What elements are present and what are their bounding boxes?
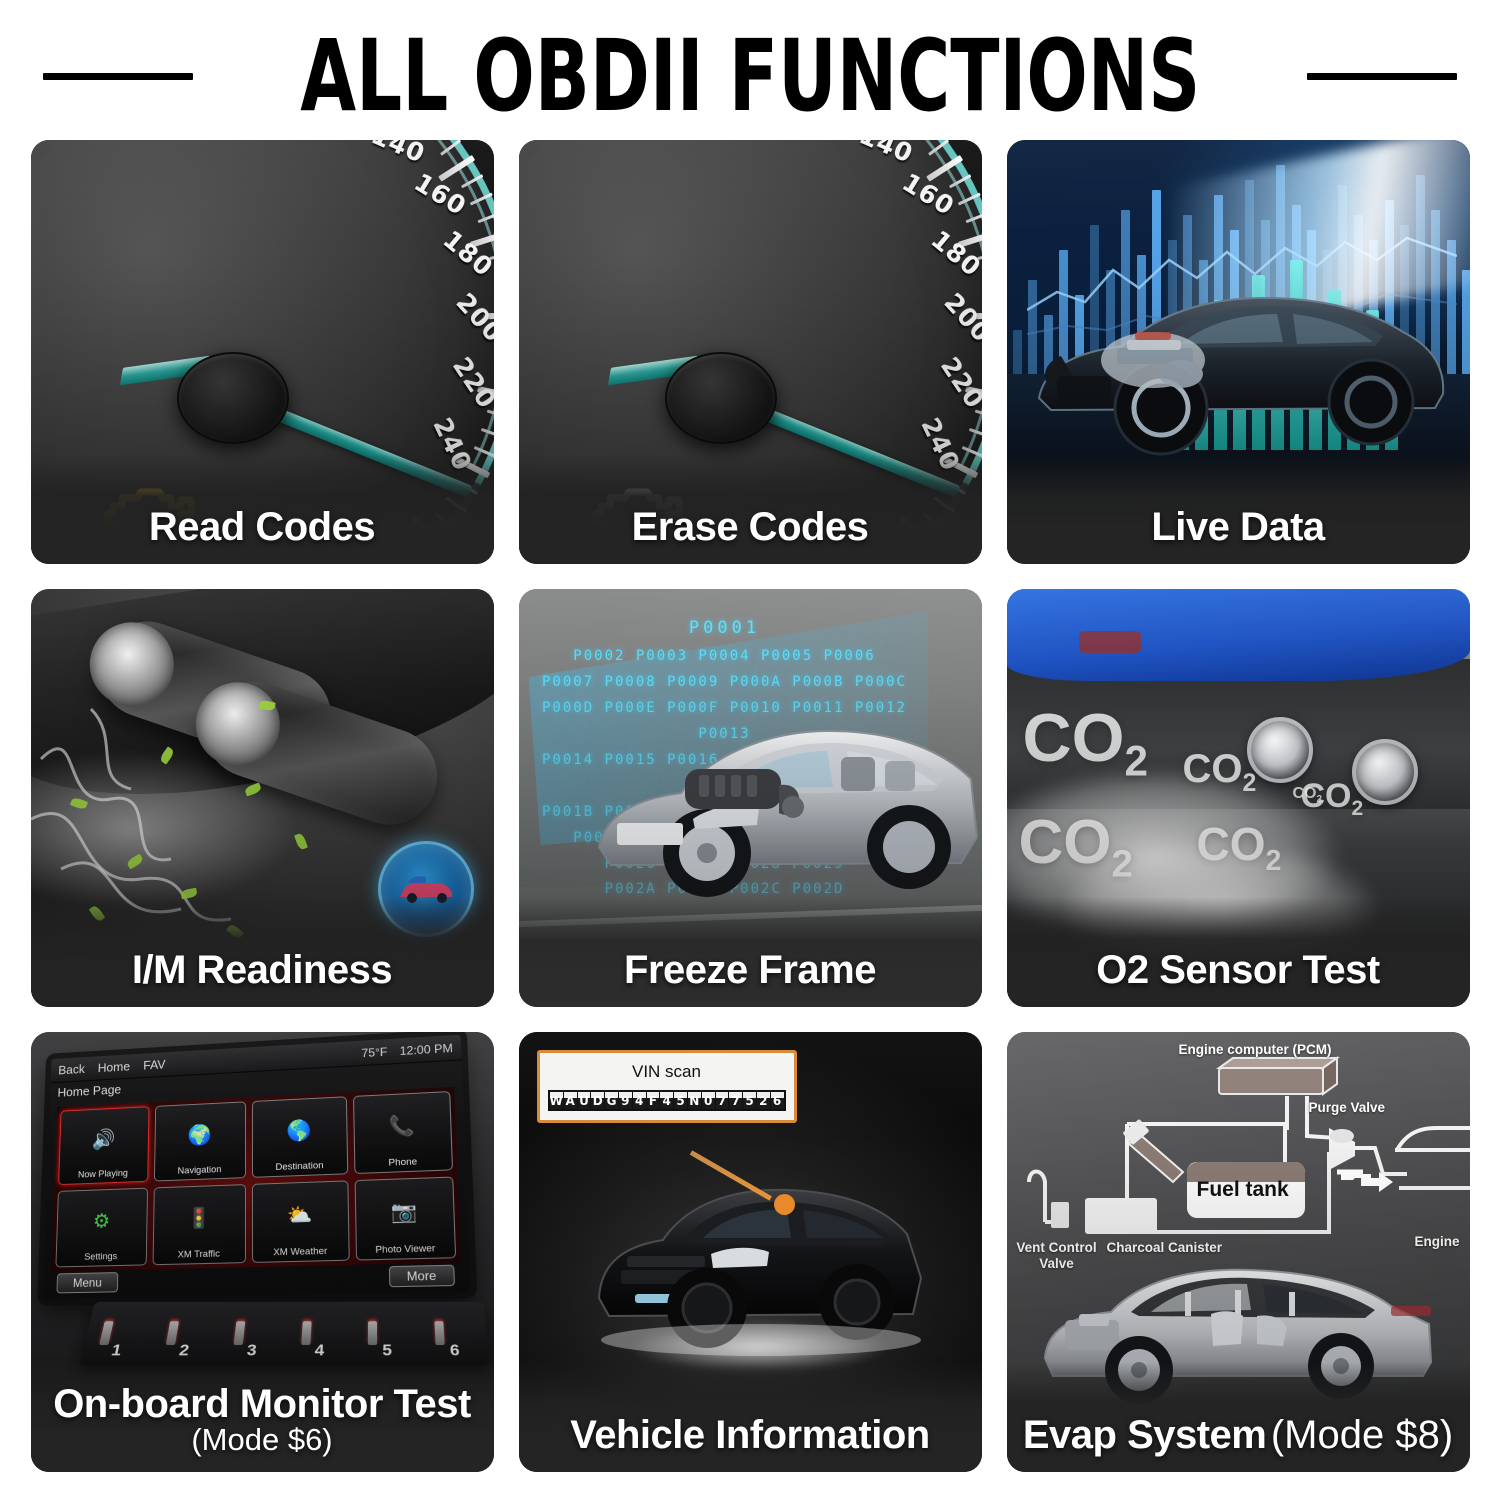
app-label: Now Playing (77, 1168, 127, 1181)
gauge-number: 200 (951, 290, 981, 347)
menu-button[interactable]: Menu (56, 1272, 118, 1293)
gauge-number: 220 (942, 353, 982, 413)
title-rule-left (43, 73, 193, 80)
app-photo-viewer[interactable]: 📷 Photo Viewer (354, 1177, 456, 1261)
cloud-sun-icon: ⛅ (286, 1183, 312, 1247)
gauge-number: 140 (856, 140, 916, 174)
vin-scan-title: VIN scan (548, 1060, 786, 1090)
page-header: ALL OBDII FUNCTIONS (0, 0, 1500, 140)
label-fuel-tank: Fuel tank (1197, 1178, 1289, 1202)
temperature-readout: 75°F (361, 1044, 387, 1059)
freeze-frame-caption: Freeze Frame (519, 950, 982, 1007)
vin-callout-dot (774, 1194, 795, 1215)
clock-readout: 12:00 PM (399, 1041, 453, 1058)
label-engine: Engine (1414, 1234, 1459, 1250)
tile-label: On-board Monitor Test (31, 1384, 494, 1425)
vin-character-cell: 7 (716, 1092, 729, 1109)
app-destination[interactable]: 🌎 Destination (251, 1096, 347, 1178)
tile-label: Vehicle Information (519, 1415, 982, 1456)
camera-icon: 📷 (390, 1179, 418, 1244)
tile-evap-system[interactable]: Engine computer (PCM) Purge Valve Fuel t… (1007, 1032, 1470, 1472)
co2-label: CO2 (1183, 747, 1257, 798)
head-unit-screen[interactable]: Back Home FAV 75°F 12:00 PM Home Page 🔊 … (42, 1035, 470, 1300)
vin-character-cell: 9 (619, 1092, 632, 1109)
gauge-number: 140 (368, 140, 428, 174)
app-label: Photo Viewer (375, 1243, 435, 1256)
traffic-light-icon: 🚦 (186, 1186, 211, 1249)
vin-character-cell: A (564, 1092, 577, 1109)
vehicle-information-caption: Vehicle Information (519, 1415, 982, 1472)
gauge-number: 180 (933, 223, 977, 284)
vin-character-cell: 7 (729, 1092, 742, 1109)
tile-label: Erase Codes (519, 507, 982, 548)
app-phone[interactable]: 📞 Phone (352, 1091, 453, 1174)
dtc-code-row: P0001 (525, 613, 925, 644)
tile-on-board-monitor-test[interactable]: Back Home FAV 75°F 12:00 PM Home Page 🔊 … (31, 1032, 494, 1472)
vin-character-cell: G (605, 1092, 618, 1109)
vin-character-cell: D (591, 1092, 604, 1109)
tile-freeze-frame[interactable]: P0001P0002 P0003 P0004 P0005 P0006P0007 … (519, 589, 982, 1007)
gauge-number: 180 (445, 223, 489, 284)
tile-label: Live Data (1007, 507, 1470, 548)
page-title: ALL OBDII FUNCTIONS (300, 18, 1200, 134)
tile-label: Evap System (1023, 1413, 1267, 1457)
co2-label: CO2 (1023, 699, 1148, 786)
label-purge-valve: Purge Valve (1309, 1100, 1386, 1116)
app-label: Phone (388, 1156, 417, 1168)
black-suv-illustration (591, 1158, 931, 1358)
vin-character-cell: N (688, 1092, 701, 1109)
app-xm-weather[interactable]: ⛅ XM Weather (251, 1180, 348, 1263)
app-label: XM Traffic (177, 1248, 219, 1260)
gauge-hub (177, 352, 289, 444)
vin-character-cell: F (647, 1092, 660, 1109)
nav-fav-button[interactable]: FAV (143, 1057, 166, 1072)
tile-sublabel: (Mode $6) (31, 1424, 494, 1456)
o2-sensor-caption: O2 Sensor Test (1007, 950, 1470, 1007)
tile-live-data[interactable]: Live Data (1007, 140, 1470, 564)
on-board-monitor-caption: On-board Monitor Test (Mode $6) (31, 1384, 494, 1472)
app-label: XM Weather (273, 1246, 327, 1259)
gauge-hub (665, 352, 777, 444)
globe-icon: 🌍 (187, 1104, 212, 1165)
tile-label: Read Codes (31, 507, 494, 548)
evap-system-caption: Evap System (Mode $8) (1007, 1415, 1470, 1472)
gauge-number: 160 (413, 163, 467, 225)
more-button[interactable]: More (388, 1265, 455, 1288)
app-navigation[interactable]: 🌍 Navigation (153, 1101, 246, 1181)
app-now-playing[interactable]: 🔊 Now Playing (58, 1106, 149, 1185)
tile-label: O2 Sensor Test (1007, 950, 1470, 991)
tile-label: I/M Readiness (31, 950, 494, 991)
globe-pin-icon: 🌎 (286, 1099, 312, 1161)
candlestick-bar (1462, 270, 1470, 390)
tile-label: Freeze Frame (519, 950, 982, 991)
gears-icon: ⚙ (92, 1190, 111, 1252)
vin-character-cell: 0 (702, 1092, 715, 1109)
vin-character-cell: W (550, 1092, 563, 1109)
gauge-number: 220 (454, 353, 494, 413)
vin-character-cell: 5 (674, 1092, 687, 1109)
vin-character-cell: 4 (633, 1092, 646, 1109)
head-unit-app-grid: 🔊 Now Playing 🌍 Navigation 🌎 Destination… (51, 1087, 460, 1272)
title-rule-right (1307, 73, 1457, 80)
gauge-number: 160 (901, 163, 955, 225)
nav-back-button[interactable]: Back (58, 1062, 85, 1077)
read-codes-caption: Read Codes (31, 507, 494, 564)
xray-car-illustration (1031, 248, 1451, 458)
nav-home-button[interactable]: Home (97, 1059, 130, 1075)
app-settings[interactable]: ⚙ Settings (55, 1188, 147, 1268)
live-data-caption: Live Data (1007, 507, 1470, 564)
speaker-icon: 🔊 (91, 1109, 116, 1170)
vin-scan-panel: VIN scan WAUDG94F45N077526 (537, 1050, 797, 1123)
gauge-number: 200 (463, 290, 493, 347)
vin-character-cell: 4 (660, 1092, 673, 1109)
vin-character-cells: WAUDG94F45N077526 (548, 1090, 786, 1111)
tile-im-readiness[interactable]: I/M Readiness (31, 589, 494, 1007)
tile-erase-codes[interactable]: 6080100120140160180200220240 Erase Codes (519, 140, 982, 564)
app-label: Destination (275, 1160, 323, 1173)
label-engine-computer: Engine computer (PCM) (1179, 1042, 1332, 1058)
cutaway-car-illustration (589, 657, 982, 917)
vin-character-cell: 2 (757, 1092, 770, 1109)
label-charcoal-canister: Charcoal Canister (1107, 1240, 1223, 1256)
erase-codes-caption: Erase Codes (519, 507, 982, 564)
im-readiness-caption: I/M Readiness (31, 950, 494, 1007)
tile-o2-sensor-test[interactable]: CO2 CO2 CO2 CO2 CO2 CO2 O2 Sensor Test (1007, 589, 1470, 1007)
radio-preset-row: 1 2 3 4 5 6 (78, 1302, 489, 1366)
vin-character-cell: 5 (743, 1092, 756, 1109)
vin-character-cell: 6 (771, 1092, 784, 1109)
app-xm-traffic[interactable]: 🚦 XM Traffic (152, 1184, 246, 1265)
app-label: Navigation (177, 1164, 221, 1177)
tile-read-codes[interactable]: 6080100120140160180200220240 Read Codes (31, 140, 494, 564)
functions-grid: 6080100120140160180200220240 Read Codes … (30, 140, 1470, 1472)
tile-vehicle-information[interactable]: VIN scan WAUDG94F45N077526 (519, 1032, 982, 1472)
tile-sublabel: (Mode $8) (1271, 1413, 1453, 1457)
vin-character-cell: U (578, 1092, 591, 1109)
app-label: Settings (84, 1251, 117, 1263)
phone-icon: 📞 (388, 1094, 416, 1158)
